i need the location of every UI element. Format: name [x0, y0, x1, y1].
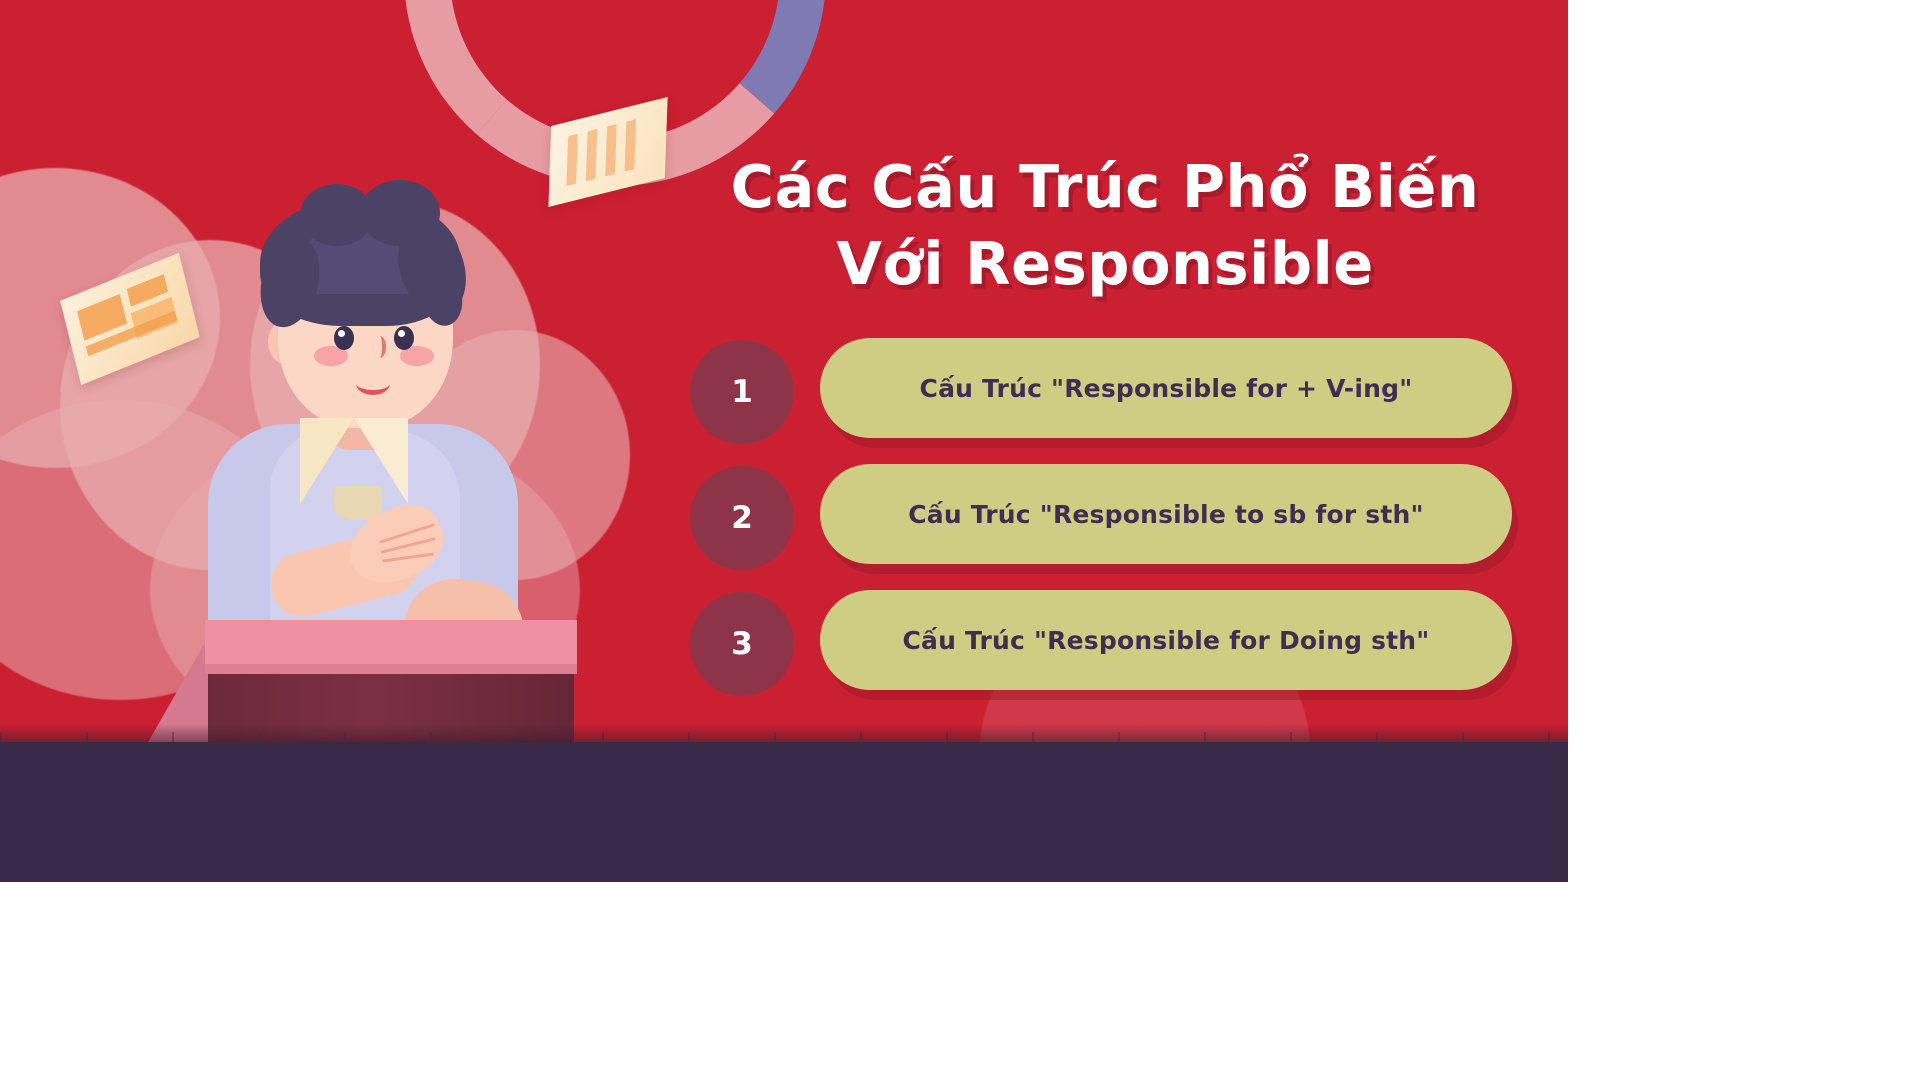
list-item-number-badge: 3: [690, 592, 794, 696]
list-item[interactable]: 1 Cấu Trúc "Responsible for + V-ing": [690, 338, 1530, 451]
structure-list: 1 Cấu Trúc "Responsible for + V-ing" 2 C…: [690, 338, 1530, 716]
nose: [374, 336, 386, 358]
list-item[interactable]: 2 Cấu Trúc "Responsible to sb for sth": [690, 464, 1530, 577]
collar-knot: [334, 486, 382, 520]
list-item-number-badge: 1: [690, 340, 794, 444]
podium-top-edge: [205, 664, 577, 674]
list-item-label: Cấu Trúc "Responsible for + V-ing": [894, 374, 1439, 403]
list-item-label: Cấu Trúc "Responsible for Doing sth": [876, 626, 1455, 655]
slide-content: Các Cấu Trúc Phổ Biến Với Responsible 1 …: [690, 0, 1568, 882]
page-title: Các Cấu Trúc Phổ Biến Với Responsible: [690, 148, 1520, 304]
hair-tuft: [360, 180, 440, 246]
list-item[interactable]: 3 Cấu Trúc "Responsible for Doing sth": [690, 590, 1530, 703]
eye-right: [394, 326, 414, 350]
podium-top: [205, 620, 577, 668]
list-item-pill[interactable]: Cấu Trúc "Responsible to sb for sth": [820, 464, 1512, 564]
list-item-pill[interactable]: Cấu Trúc "Responsible for Doing sth": [820, 590, 1512, 690]
list-item-label: Cấu Trúc "Responsible to sb for sth": [882, 500, 1449, 529]
list-item-pill[interactable]: Cấu Trúc "Responsible for + V-ing": [820, 338, 1512, 438]
page-title-line-2: Với Responsible: [690, 225, 1520, 303]
eye-left: [334, 326, 354, 350]
list-item-number-badge: 2: [690, 466, 794, 570]
presentation-slide: Các Cấu Trúc Phổ Biến Với Responsible 1 …: [0, 0, 1568, 882]
mouth: [356, 372, 390, 395]
page-title-line-1: Các Cấu Trúc Phổ Biến: [690, 148, 1520, 226]
